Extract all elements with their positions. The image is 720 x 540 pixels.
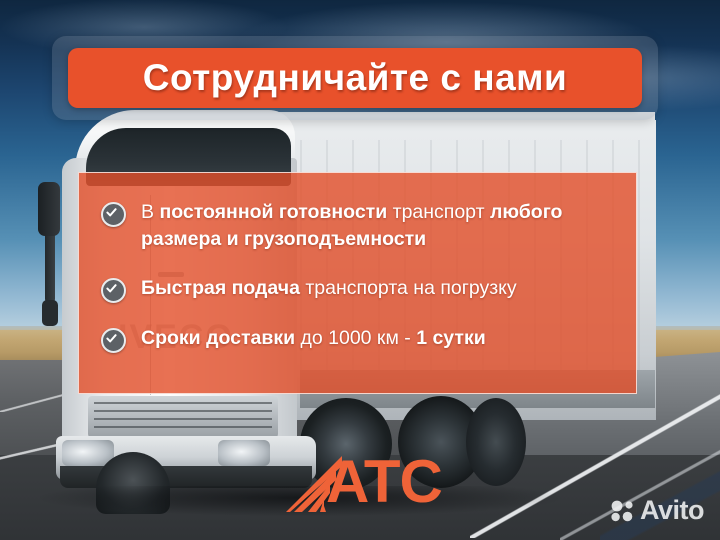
headlight-right — [218, 440, 270, 466]
feature-text-strong: Сроки доставки — [141, 327, 295, 349]
feature-text-normal: В — [141, 201, 159, 223]
feature-text-normal: до 1000 км - — [295, 327, 416, 349]
side-mirror-small — [42, 300, 58, 326]
feature-text-normal: транспорт — [387, 201, 490, 223]
feature-text-normal: транспорта на погрузку — [300, 277, 517, 299]
company-logo: ATC — [286, 452, 438, 514]
side-mirror — [38, 182, 60, 236]
avito-label: Avito — [640, 495, 704, 526]
check-circle-icon — [101, 278, 126, 303]
promo-banner: IVECO Сотрудничайте с нами В постоянной … — [0, 0, 720, 540]
page-title: Сотрудничайте с нами — [143, 57, 568, 99]
avito-dots-icon — [611, 500, 635, 522]
feature-text: Сроки доставки до 1000 км - 1 сутки — [141, 325, 486, 352]
feature-text-strong: Быстрая подача — [141, 277, 300, 299]
feature-text: В постоянной готовности транспорт любого… — [141, 199, 618, 253]
feature-item: Быстрая подача транспорта на погрузку — [101, 275, 618, 303]
feature-item: Сроки доставки до 1000 км - 1 сутки — [101, 325, 618, 353]
check-circle-icon — [101, 328, 126, 353]
feature-text-strong: 1 сутки — [416, 327, 486, 349]
header-banner: Сотрудничайте с нами — [68, 48, 642, 108]
logo-text: ATC — [326, 452, 442, 512]
feature-item: В постоянной готовности транспорт любого… — [101, 199, 618, 253]
front-grille-slats — [94, 402, 272, 432]
check-circle-icon — [101, 202, 126, 227]
avito-watermark: Avito — [611, 495, 704, 526]
feature-text-strong: постоянной готовности — [159, 201, 387, 223]
trailer-wheel-3 — [466, 398, 526, 486]
feature-text: Быстрая подача транспорта на погрузку — [141, 275, 517, 302]
features-list: В постоянной готовности транспорт любого… — [79, 173, 636, 393]
features-panel: В постоянной готовности транспорт любого… — [78, 172, 637, 394]
